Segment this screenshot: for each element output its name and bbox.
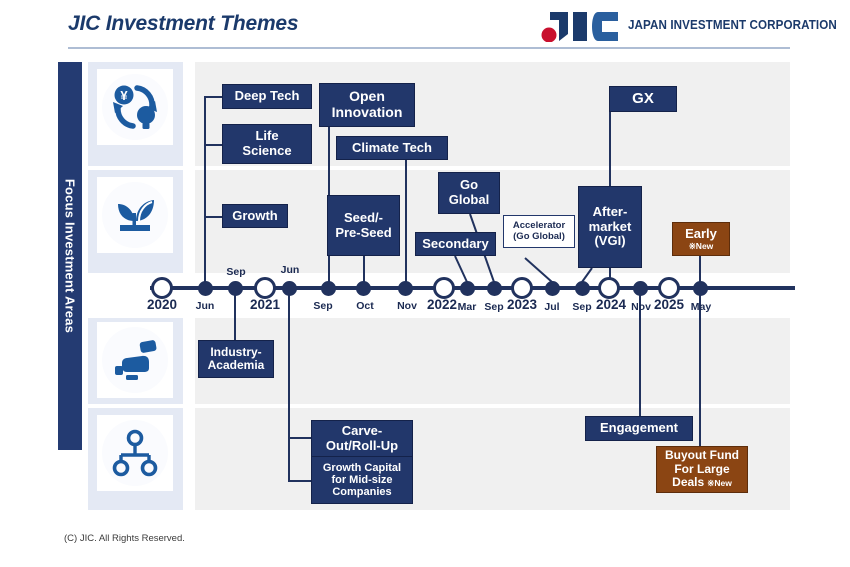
timeline-node-sep-2022[interactable] <box>487 281 502 296</box>
theme-box-carve-out-roll-up[interactable]: Carve- Out/Roll-Up <box>311 420 413 457</box>
timeline-node-sep-2023[interactable] <box>575 281 590 296</box>
theme-label-line1: Life <box>255 129 278 144</box>
theme-label: Early <box>685 227 717 242</box>
timeline-node-jul-2023[interactable] <box>545 281 560 296</box>
theme-box-growth-capital[interactable]: Growth Capital for Mid-size Companies <box>311 456 413 504</box>
theme-label-line2: For Large <box>674 463 729 476</box>
theme-box-deep-tech[interactable]: Deep Tech <box>222 84 312 109</box>
theme-box-climate-tech[interactable]: Climate Tech <box>336 136 448 160</box>
theme-box-buyout-fund[interactable]: Buyout Fund For Large Deals ※New <box>656 446 748 493</box>
theme-label-line3: (VGI) <box>594 234 625 249</box>
timeline-node-jun-2021[interactable] <box>282 281 297 296</box>
theme-label: Climate Tech <box>352 141 432 156</box>
theme-box-accelerator[interactable]: Accelerator (Go Global) <box>503 215 575 248</box>
timeline-node-2025[interactable] <box>658 277 680 299</box>
timeline-node-mar-2022[interactable] <box>460 281 475 296</box>
tick-label-jun-2020: Jun <box>184 300 226 312</box>
theme-label-line3: Deals <box>672 476 704 489</box>
theme-label-line2: Science <box>242 144 291 159</box>
theme-label-line2: for Mid-size <box>331 474 392 486</box>
tick-label-jun-2021: Jun <box>269 264 311 276</box>
theme-label: Growth <box>232 209 278 224</box>
theme-box-gx[interactable]: GX <box>609 86 677 112</box>
theme-badge-new: ※New <box>689 242 714 252</box>
theme-box-growth[interactable]: Growth <box>222 204 288 228</box>
timeline-node-oct-2021[interactable] <box>356 281 371 296</box>
theme-box-engagement[interactable]: Engagement <box>585 416 693 441</box>
theme-label: GX <box>632 91 654 108</box>
tick-label-2020: 2020 <box>136 297 188 312</box>
theme-label-line1: Open <box>349 89 385 105</box>
timeline-node-may-2025[interactable] <box>693 281 708 296</box>
theme-label-line3-wrap: Deals ※New <box>672 476 732 489</box>
theme-label-line1: Accelerator <box>513 221 565 232</box>
timeline-node-2022[interactable] <box>433 277 455 299</box>
timeline-node-2020[interactable] <box>151 277 173 299</box>
theme-label-line3: Companies <box>332 486 391 498</box>
tick-label-oct-2021: Oct <box>344 300 386 312</box>
timeline-node-sep-2020[interactable] <box>228 281 243 296</box>
theme-box-secondary[interactable]: Secondary <box>415 232 496 256</box>
theme-label-line2: Innovation <box>332 105 403 121</box>
theme-label-line1: Growth Capital <box>323 462 401 474</box>
theme-label-line1: Industry- <box>210 346 261 359</box>
theme-label-line2: Pre-Seed <box>335 226 391 241</box>
tick-label-sep-2021: Sep <box>302 300 344 312</box>
theme-label-line1: After- <box>593 205 628 220</box>
timeline-node-sep-2021[interactable] <box>321 281 336 296</box>
theme-label: Engagement <box>600 421 678 436</box>
theme-box-seed-pre-seed[interactable]: Seed/- Pre-Seed <box>327 195 400 256</box>
tick-label-may-2025: May <box>681 301 721 313</box>
theme-box-industry-academia[interactable]: Industry- Academia <box>198 340 274 378</box>
theme-label-line1: Seed/- <box>344 211 383 226</box>
copyright-footer: (C) JIC. All Rights Reserved. <box>64 533 185 544</box>
timeline-node-2023[interactable] <box>511 277 533 299</box>
theme-box-life-science[interactable]: Life Science <box>222 124 312 164</box>
theme-box-aftermarket-vgi[interactable]: After- market (VGI) <box>578 186 642 268</box>
theme-badge-new: ※New <box>707 479 732 489</box>
theme-label-line1: Go <box>460 178 478 193</box>
theme-label-line2: Out/Roll-Up <box>326 439 398 454</box>
timeline-node-jun-2020[interactable] <box>198 281 213 296</box>
tick-label-2021: 2021 <box>239 297 291 312</box>
tick-label-sep-2020: Sep <box>215 266 257 278</box>
theme-label-line1: Buyout Fund <box>665 449 739 462</box>
theme-label: Deep Tech <box>235 89 300 104</box>
slide-canvas: JIC Investment Themes JAPAN INVESTMENT C… <box>0 0 850 567</box>
timeline-node-2024[interactable] <box>598 277 620 299</box>
theme-label-line1: Carve- <box>342 424 382 439</box>
theme-label-line2: Academia <box>208 359 265 372</box>
timeline-node-nov-2024[interactable] <box>633 281 648 296</box>
timeline-node-nov-2021[interactable] <box>398 281 413 296</box>
theme-box-early[interactable]: Early ※New <box>672 222 730 256</box>
theme-label-line2: Global <box>449 193 489 208</box>
timeline-node-2021[interactable] <box>254 277 276 299</box>
theme-label: Secondary <box>422 237 488 252</box>
theme-label-line2: (Go Global) <box>513 232 565 243</box>
theme-box-go-global[interactable]: Go Global <box>438 172 500 214</box>
theme-label-line2: market <box>589 220 632 235</box>
theme-box-open-innovation[interactable]: Open Innovation <box>319 83 415 127</box>
